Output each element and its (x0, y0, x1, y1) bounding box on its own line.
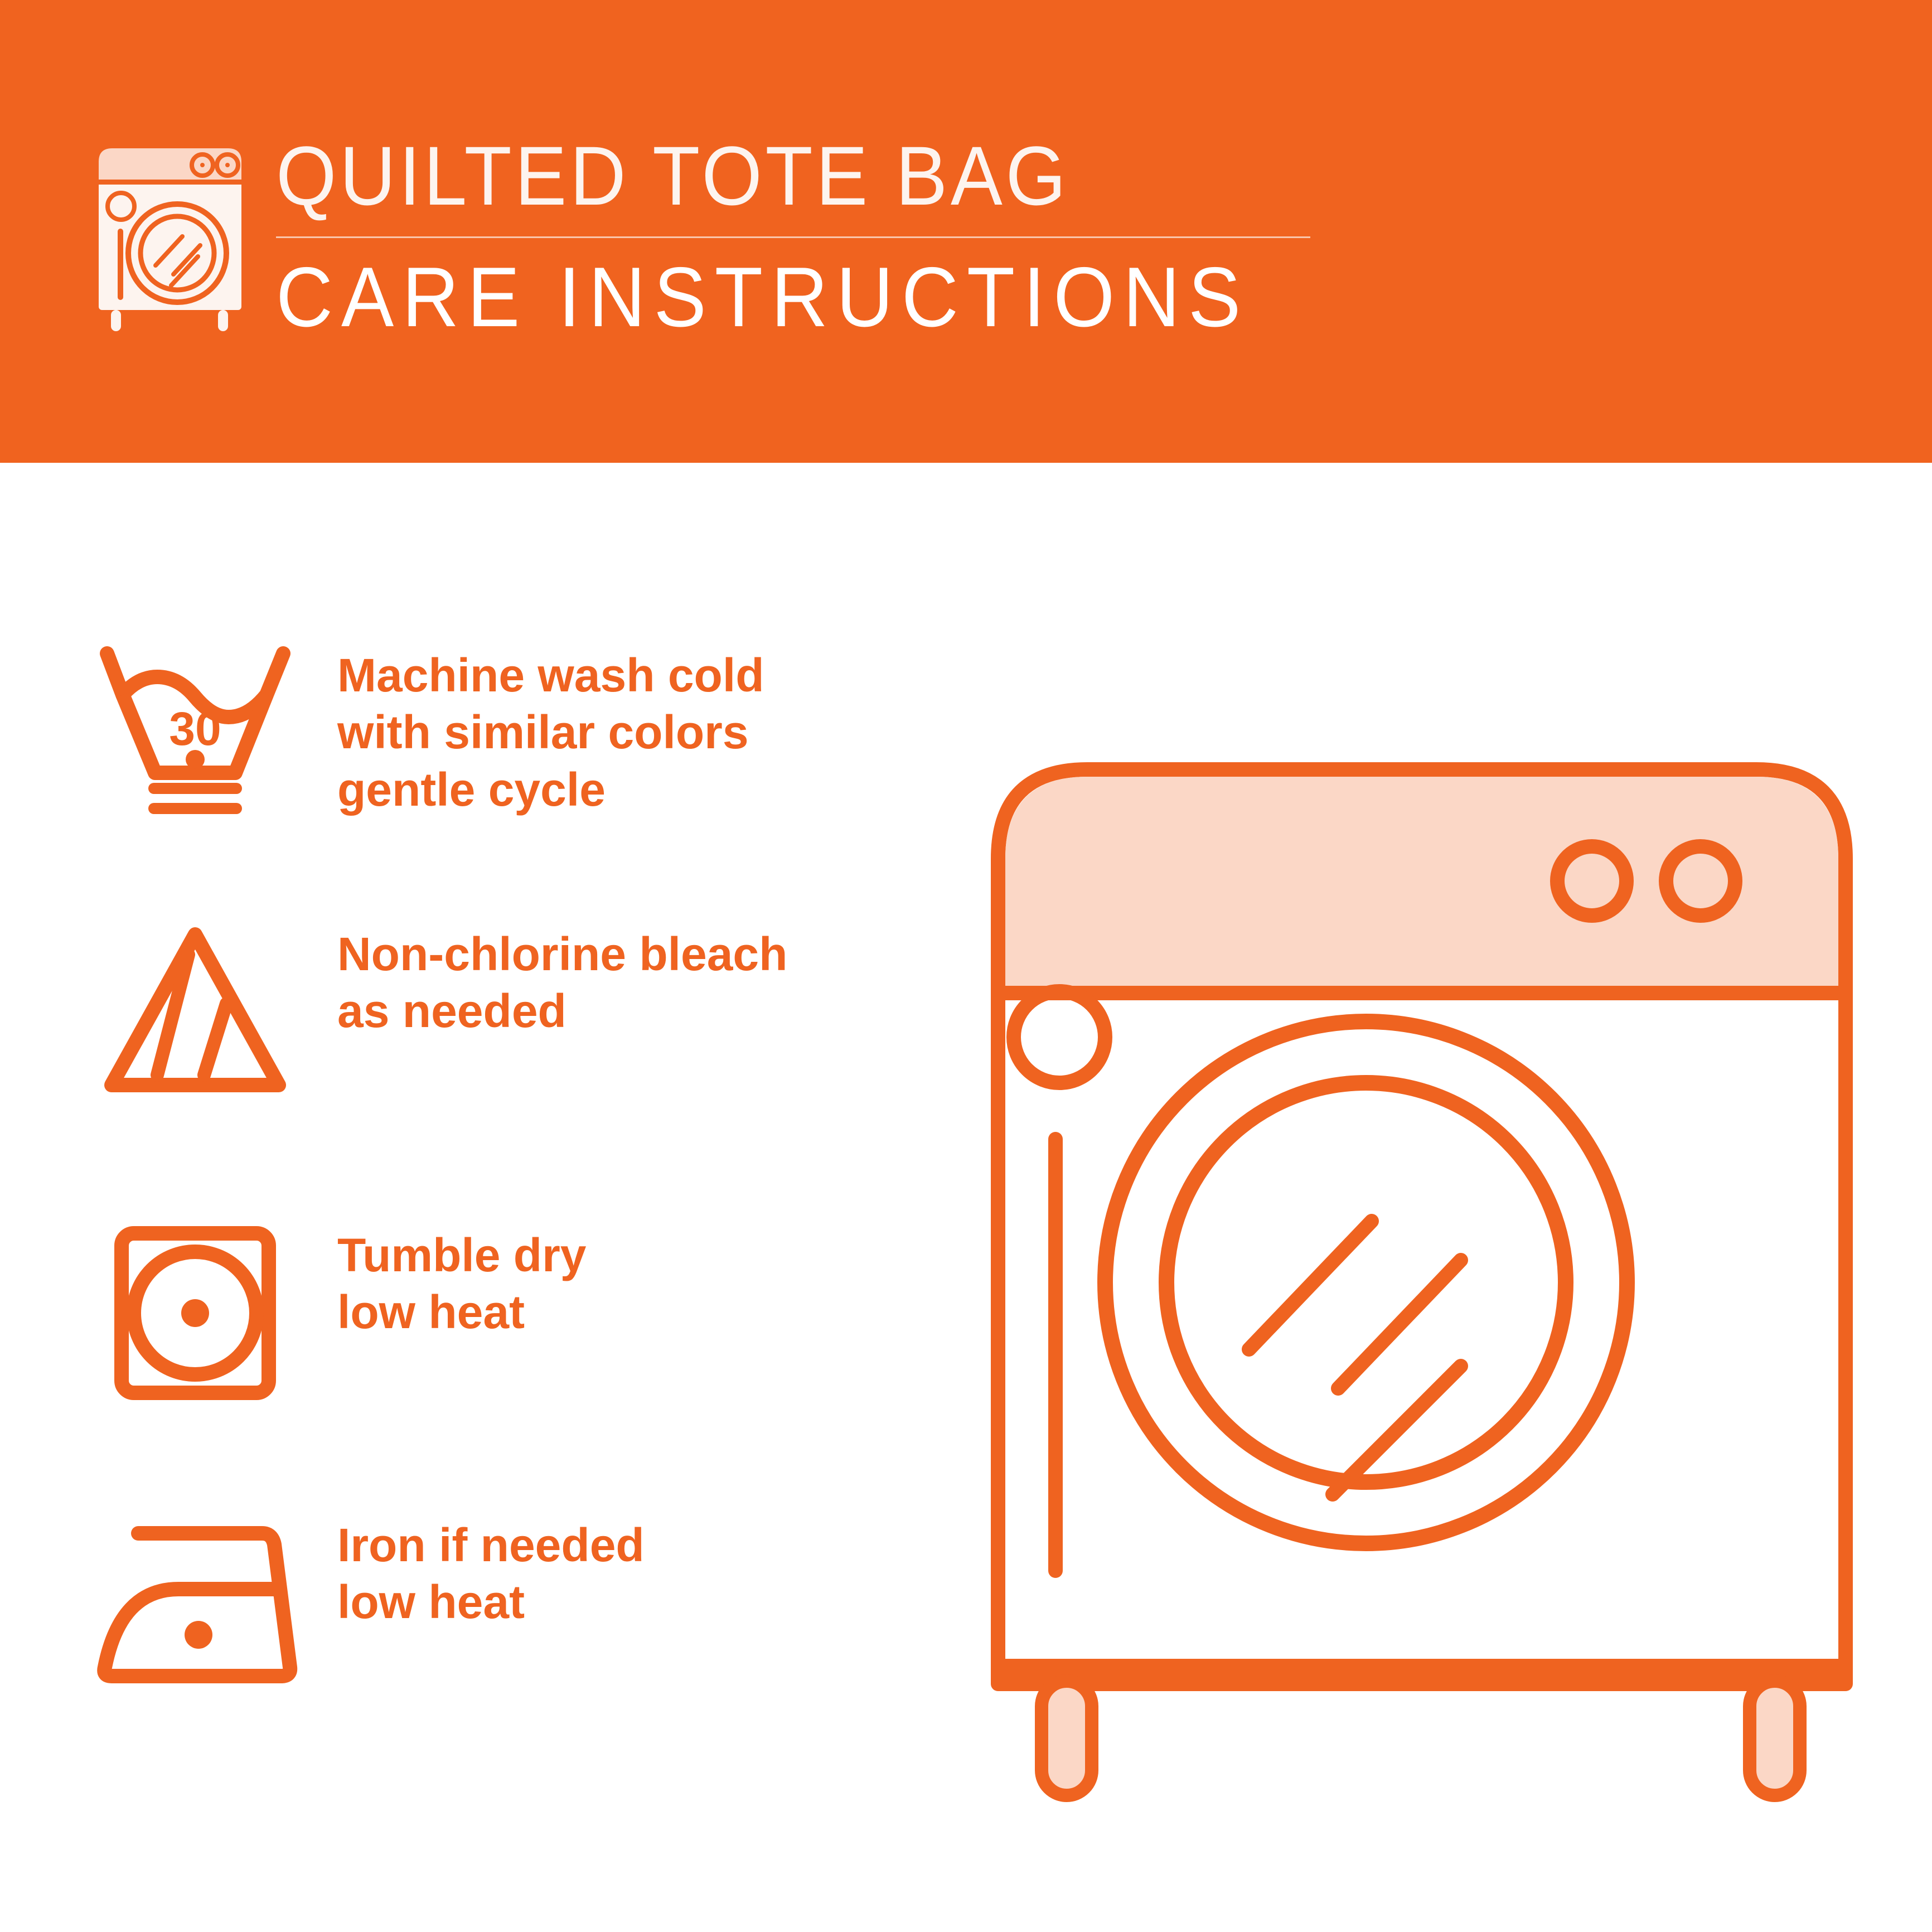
washing-machine-icon (86, 142, 254, 334)
page-title: QUILTED TOTE BAG (276, 134, 1249, 217)
washing-machine-illustration (948, 624, 1896, 1818)
non-chlorine-bleach-triangle-icon (84, 920, 307, 1104)
iron-low-heat-icon (84, 1511, 307, 1695)
care-instructions-page: QUILTED TOTE BAG CARE INSTRUCTIONS 30 Ma… (0, 0, 1932, 1932)
care-item-iron: Iron if needed low heat (84, 1511, 645, 1695)
panel-divider (998, 986, 1846, 1000)
header-content: QUILTED TOTE BAG CARE INSTRUCTIONS (86, 128, 1323, 340)
header-band: QUILTED TOTE BAG CARE INSTRUCTIONS (0, 0, 1932, 463)
page-subtitle: CARE INSTRUCTIONS (276, 255, 1249, 340)
leg-right (1750, 1681, 1800, 1795)
care-item-label: Non-chlorine bleach as needed (307, 920, 787, 1040)
care-item-label: Tumble dry low heat (307, 1221, 587, 1341)
handle-bar (1048, 1132, 1063, 1578)
header-text-group: QUILTED TOTE BAG CARE INSTRUCTIONS (276, 128, 1323, 340)
care-item-tumble-dry: Tumble dry low heat (84, 1221, 587, 1405)
care-item-label: Iron if needed low heat (307, 1511, 645, 1631)
title-divider (276, 236, 1310, 238)
care-item-bleach: Non-chlorine bleach as needed (84, 920, 787, 1104)
leg-left (1042, 1681, 1092, 1795)
wash-temperature-value: 30 (169, 703, 221, 755)
tumble-dry-low-heat-icon (84, 1221, 307, 1405)
machine-base (998, 1659, 1846, 1686)
care-item-machine-wash: 30 Machine wash cold with similar colors… (84, 641, 764, 825)
care-item-label: Machine wash cold with similar colors ge… (307, 641, 764, 818)
wash-tub-30-gentle-icon: 30 (84, 641, 307, 825)
control-panel (1005, 777, 1838, 992)
